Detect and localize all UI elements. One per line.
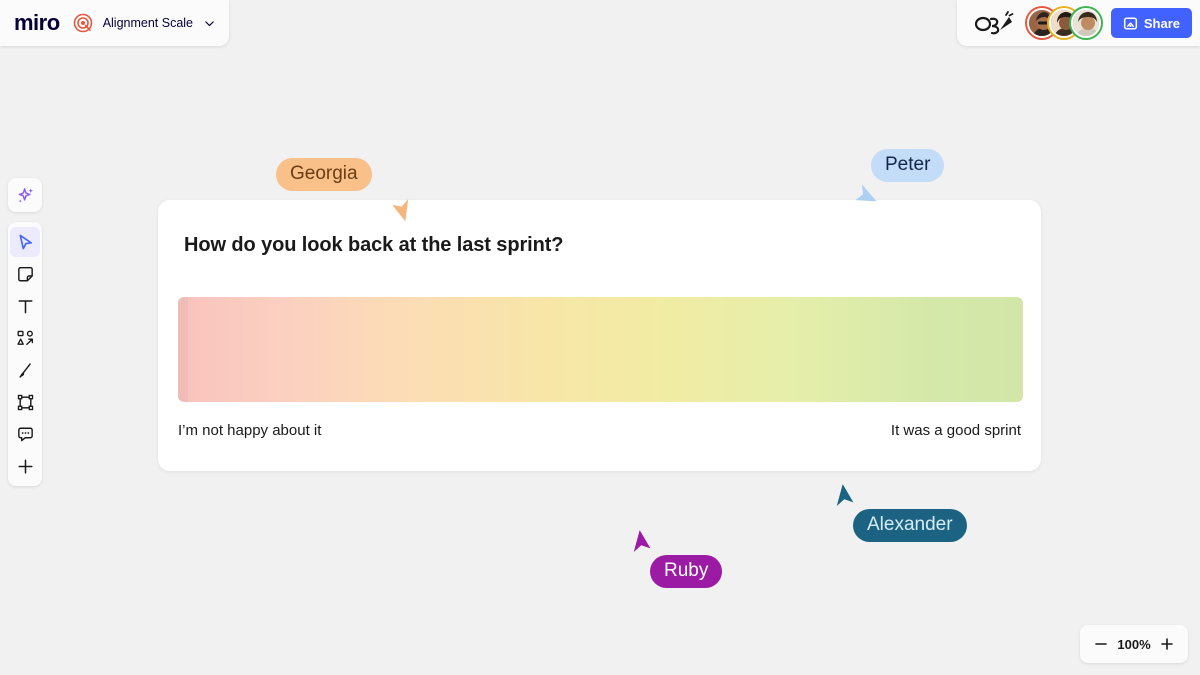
alignment-scale-card[interactable]: How do you look back at the last sprint?… — [158, 200, 1041, 471]
toolbar-item-comment[interactable] — [10, 419, 40, 449]
cursor-arrow-icon — [386, 192, 416, 227]
collaborator-name-pill: Alexander — [853, 509, 967, 542]
board-thumbnail-icon[interactable] — [72, 12, 94, 34]
cursor-arrow-icon — [627, 530, 657, 565]
toolbar-item-sticky-note[interactable] — [10, 259, 40, 289]
chevron-down-icon[interactable] — [203, 17, 216, 30]
board-bar: miro Alignment Scale — [0, 0, 229, 46]
share-board-icon — [1123, 16, 1138, 31]
zoom-out-button[interactable] — [1093, 636, 1109, 652]
collaborator-avatars[interactable] — [1027, 8, 1101, 38]
collaborator-name-pill: Georgia — [276, 158, 372, 191]
toolbar-item-pen[interactable] — [10, 355, 40, 385]
collaborator-name-pill: Ruby — [650, 555, 722, 588]
board-name[interactable]: Alignment Scale — [103, 16, 193, 30]
top-right-bar: Share — [957, 0, 1200, 46]
cursor-arrow-icon — [848, 180, 878, 215]
toolbar-item-text[interactable] — [10, 291, 40, 321]
board-canvas[interactable]: miro Alignment Scale — [0, 0, 1200, 675]
zoom-in-button[interactable] — [1159, 636, 1175, 652]
toolbar-item-select[interactable] — [10, 227, 40, 257]
page-title: How do you look back at the last sprint? — [184, 234, 563, 257]
scale-marker[interactable] — [178, 297, 188, 402]
comment-icon — [16, 425, 35, 444]
collaborator-name-pill: Peter — [871, 149, 944, 182]
sticky-note-icon — [16, 265, 35, 284]
pen-icon — [16, 361, 35, 380]
toolbar-item-shapes[interactable] — [10, 323, 40, 353]
toolbar-item-ai[interactable] — [8, 178, 42, 212]
cursor-arrow-icon — [830, 484, 860, 519]
scale-label-right: It was a good sprint — [891, 422, 1021, 439]
avatar[interactable] — [1071, 8, 1101, 38]
left-toolbar — [8, 222, 42, 486]
shapes-icon — [16, 329, 35, 348]
scale-label-left: I’m not happy about it — [178, 422, 321, 439]
cursor-icon — [16, 233, 35, 252]
miro-logo[interactable]: miro — [14, 12, 60, 34]
sparkle-icon — [15, 185, 36, 206]
share-button-label: Share — [1144, 16, 1180, 31]
zoom-control: 100% — [1080, 625, 1188, 663]
frame-icon — [16, 393, 35, 412]
share-button[interactable]: Share — [1111, 8, 1192, 38]
zoom-level-label[interactable]: 100% — [1117, 637, 1150, 652]
toolbar-item-more-apps[interactable] — [10, 451, 40, 481]
toolbar-item-frame[interactable] — [10, 387, 40, 417]
plus-icon — [16, 457, 35, 476]
alignment-scale-track[interactable] — [178, 297, 1023, 402]
text-icon — [16, 297, 35, 316]
doodle-sketch-icon[interactable] — [973, 10, 1015, 36]
